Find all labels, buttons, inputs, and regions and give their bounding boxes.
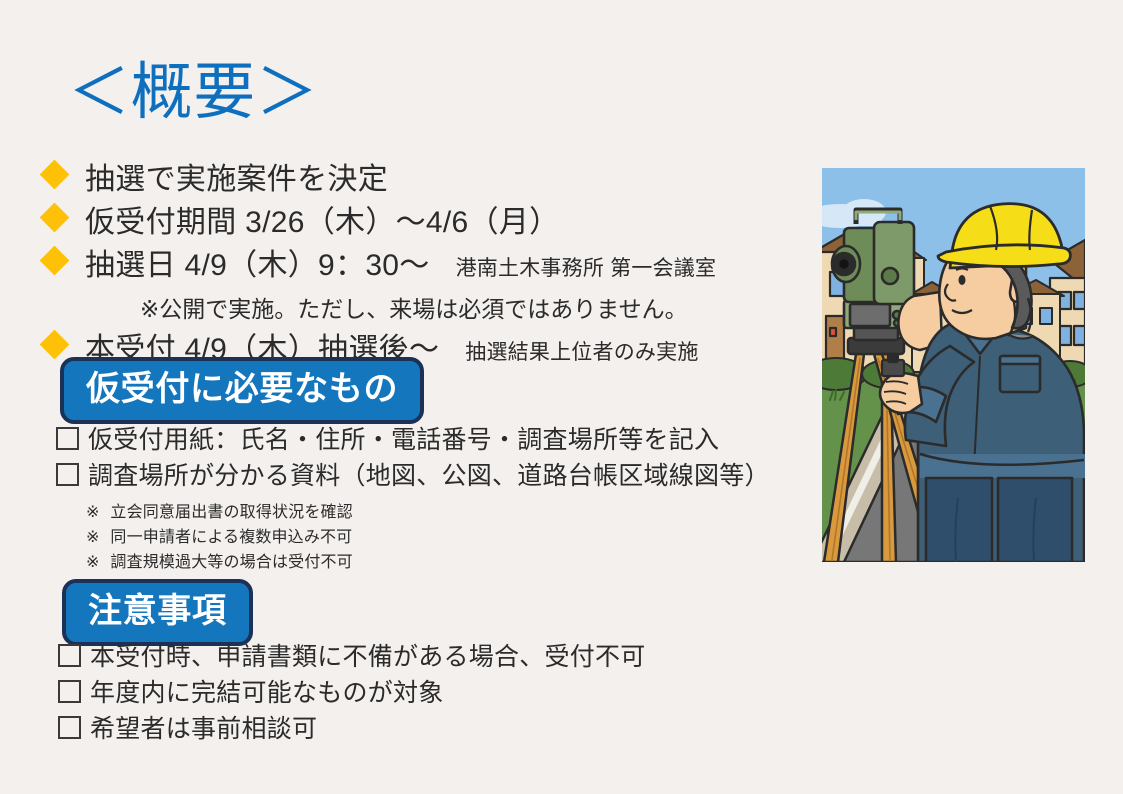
note-label: 同一申請者による複数申込み不可 xyxy=(110,525,352,550)
diamond-bullet-icon xyxy=(40,160,70,190)
note-label: 調査規模過大等の場合は受付不可 xyxy=(110,550,352,575)
bullet-annotation: 抽選結果上位者のみ実施 xyxy=(465,333,698,373)
asterisk-icon: ※ xyxy=(86,525,99,550)
asterisk-icon: ※ xyxy=(86,550,99,575)
note-label: 立会同意届出書の取得状況を確認 xyxy=(110,500,352,525)
precautions-checklist: 本受付時、申請書類に不備がある場合、受付不可 年度内に完結可能なものが対象 希望… xyxy=(58,640,646,748)
banner-label: 仮受付に必要なもの xyxy=(60,357,424,424)
list-item: 仮受付期間 3/26（木）～4/6（月） xyxy=(44,203,814,243)
list-item: 抽選日 4/9（木）9：30～ 港南土木事務所 第一会議室 xyxy=(44,246,814,289)
list-item[interactable]: 希望者は事前相談可 xyxy=(58,712,646,747)
checkbox-icon[interactable] xyxy=(56,427,79,450)
checkbox-icon[interactable] xyxy=(58,644,81,667)
page-title: ＜概要＞ xyxy=(68,62,318,124)
checkbox-icon[interactable] xyxy=(58,716,81,739)
list-item: ※ 同一申請者による複数申込み不可 xyxy=(86,525,353,550)
bullet-label: 仮受付期間 3/26（木）～4/6（月） xyxy=(85,203,559,243)
banner-label: 注意事項 xyxy=(62,579,253,646)
diamond-bullet-icon xyxy=(40,330,70,360)
list-item[interactable]: 年度内に完結可能なものが対象 xyxy=(58,676,646,711)
required-items-checklist: 仮受付用紙：氏名・住所・電話番号・調査場所等を記入 調査場所が分かる資料（地図、… xyxy=(56,423,770,495)
surveyor-illustration xyxy=(822,168,1085,562)
checklist-label: 仮受付用紙：氏名・住所・電話番号・調査場所等を記入 xyxy=(88,423,719,458)
checklist-label: 調査場所が分かる資料（地図、公図、道路台帳区域線図等） xyxy=(88,459,770,494)
checkbox-icon[interactable] xyxy=(56,463,79,486)
list-item: ※ 立会同意届出書の取得状況を確認 xyxy=(86,500,353,525)
diamond-bullet-icon xyxy=(40,246,70,276)
section-header-required-items: 仮受付に必要なもの xyxy=(60,357,424,424)
list-item: ※ 調査規模過大等の場合は受付不可 xyxy=(86,550,353,575)
bullet-annotation: 港南土木事務所 第一会議室 xyxy=(456,249,717,289)
checklist-label: 希望者は事前相談可 xyxy=(90,712,317,747)
bullet-sub-note: ※公開で実施。ただし、来場は必須ではありません。 xyxy=(140,292,814,326)
overview-bullet-list: 抽選で実施案件を決定 仮受付期間 3/26（木）～4/6（月） 抽選日 4/9（… xyxy=(44,160,814,376)
list-item[interactable]: 調査場所が分かる資料（地図、公図、道路台帳区域線図等） xyxy=(56,459,770,494)
checkbox-icon[interactable] xyxy=(58,680,81,703)
diamond-bullet-icon xyxy=(40,203,70,233)
required-items-notes: ※ 立会同意届出書の取得状況を確認 ※ 同一申請者による複数申込み不可 ※ 調査… xyxy=(86,500,353,575)
asterisk-icon: ※ xyxy=(86,500,99,525)
list-item[interactable]: 本受付時、申請書類に不備がある場合、受付不可 xyxy=(58,640,646,675)
bullet-label: 抽選日 4/9（木）9：30～ xyxy=(85,246,430,286)
section-header-precautions: 注意事項 xyxy=(62,579,253,646)
list-item[interactable]: 仮受付用紙：氏名・住所・電話番号・調査場所等を記入 xyxy=(56,423,770,458)
bullet-label: 抽選で実施案件を決定 xyxy=(85,160,388,200)
checklist-label: 年度内に完結可能なものが対象 xyxy=(90,676,444,711)
checklist-label: 本受付時、申請書類に不備がある場合、受付不可 xyxy=(90,640,646,675)
list-item: 抽選で実施案件を決定 xyxy=(44,160,814,200)
